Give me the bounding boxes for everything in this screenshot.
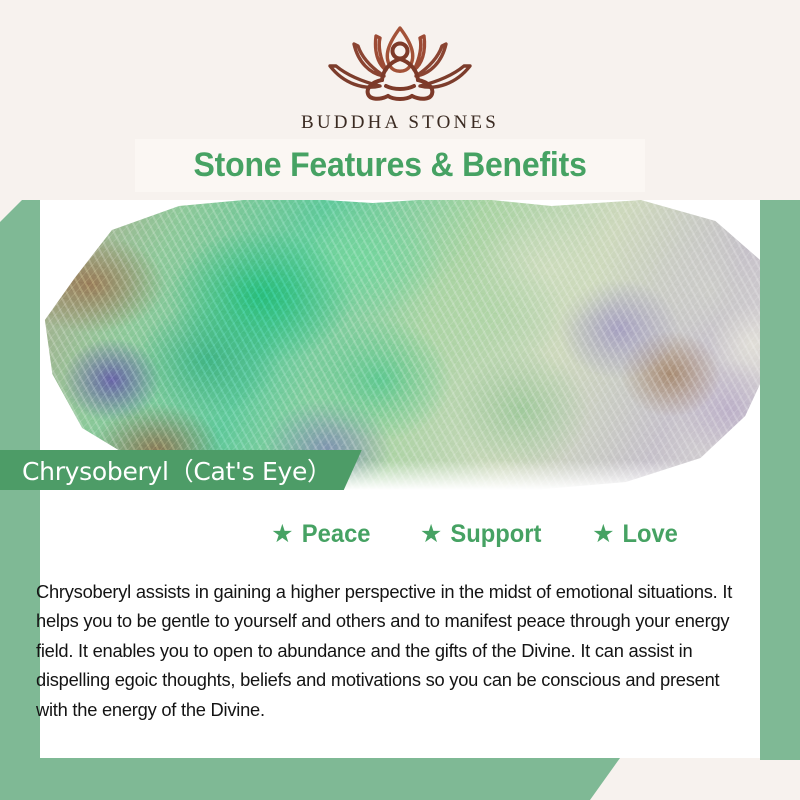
title-panel: Stone Features & Benefits [135, 139, 645, 192]
stone-description: Chrysoberyl assists in gaining a higher … [36, 577, 751, 725]
keyword-support: ★ Support [420, 520, 544, 549]
stone-name: Chrysoberyl（Cat's Eye） [22, 452, 332, 488]
lotus-meditation-icon [310, 18, 490, 106]
page-title: Stone Features & Benefits [193, 146, 586, 185]
star-icon: ★ [420, 522, 442, 547]
stone-texture-overlay [40, 200, 760, 490]
star-icon: ★ [271, 522, 293, 547]
frame-bottom-bar [0, 758, 620, 800]
frame-left-bar [0, 200, 40, 800]
keyword-label: Love [622, 520, 677, 549]
keyword-label: Peace [301, 520, 370, 549]
star-icon: ★ [592, 522, 614, 547]
keyword-love: ★ Love [592, 520, 679, 549]
brand-name: BUDDHA STONES [301, 112, 499, 134]
stone-photo [40, 200, 760, 490]
keyword-peace: ★ Peace [271, 520, 372, 549]
stone-name-banner: Chrysoberyl（Cat's Eye） [0, 450, 362, 490]
brand-logo: BUDDHA STONES [0, 18, 800, 134]
keyword-row: ★ Peace ★ Support ★ Love [40, 514, 760, 554]
keyword-label: Support [451, 520, 542, 549]
stone-image [40, 200, 760, 490]
stone-info-card: BUDDHA STONES Stone Features & Benefits … [0, 0, 800, 800]
